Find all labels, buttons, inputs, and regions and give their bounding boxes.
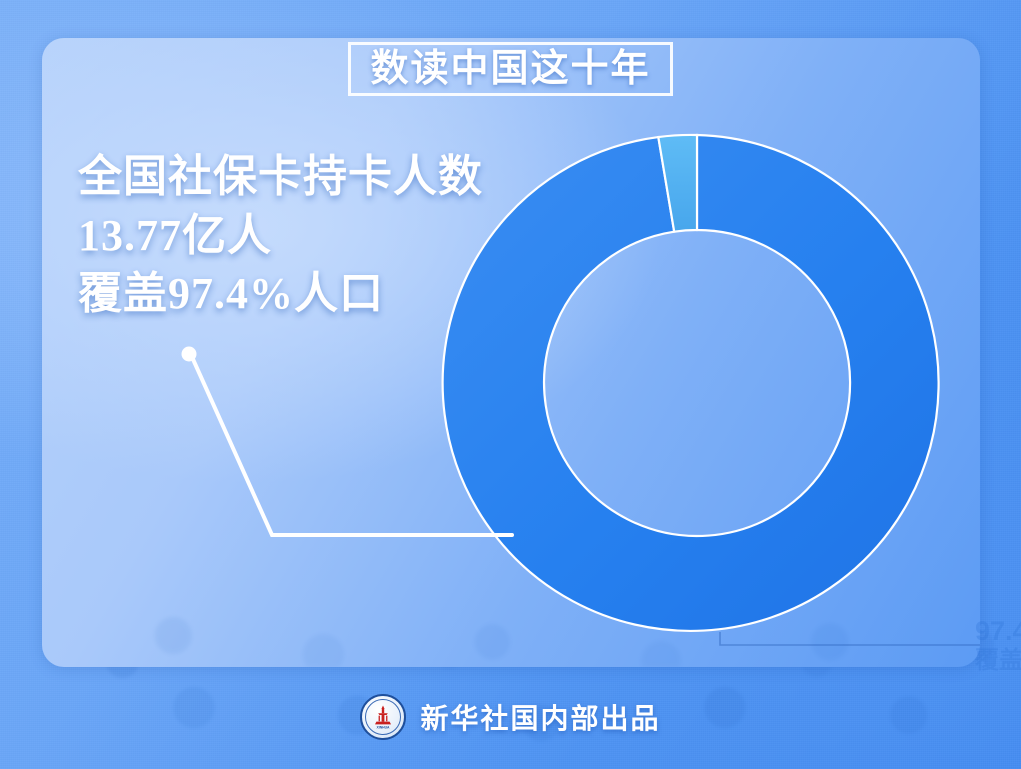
panel-crowd-texture <box>42 38 980 667</box>
footer-credit: 新华社国内部出品 <box>420 697 660 737</box>
title-frame: 数读中国这十年 <box>348 42 673 96</box>
content-panel: 数读中国这十年 全国社保卡持卡人数 13.77亿人 覆盖97.4%人口 <box>42 38 980 667</box>
headline-block: 全国社保卡持卡人数 13.77亿人 覆盖97.4%人口 <box>78 148 483 324</box>
footer-bar: XINHUA 新华社国内部出品 <box>0 686 1021 748</box>
headline-line-3: 覆盖97.4%人口 <box>78 265 483 324</box>
headline-line-2: 13.77亿人 <box>78 207 483 266</box>
page-title: 数读中国这十年 <box>370 50 650 88</box>
logo-wordmark: XINHUA <box>377 725 391 729</box>
logo-pagoda-mark: XINHUA <box>370 704 396 730</box>
headline-line-1: 全国社保卡持卡人数 <box>78 148 483 207</box>
xinhua-logo-icon: XINHUA <box>360 694 406 740</box>
infographic-canvas: 数读中国这十年 全国社保卡持卡人数 13.77亿人 覆盖97.4%人口 <box>0 0 1021 769</box>
